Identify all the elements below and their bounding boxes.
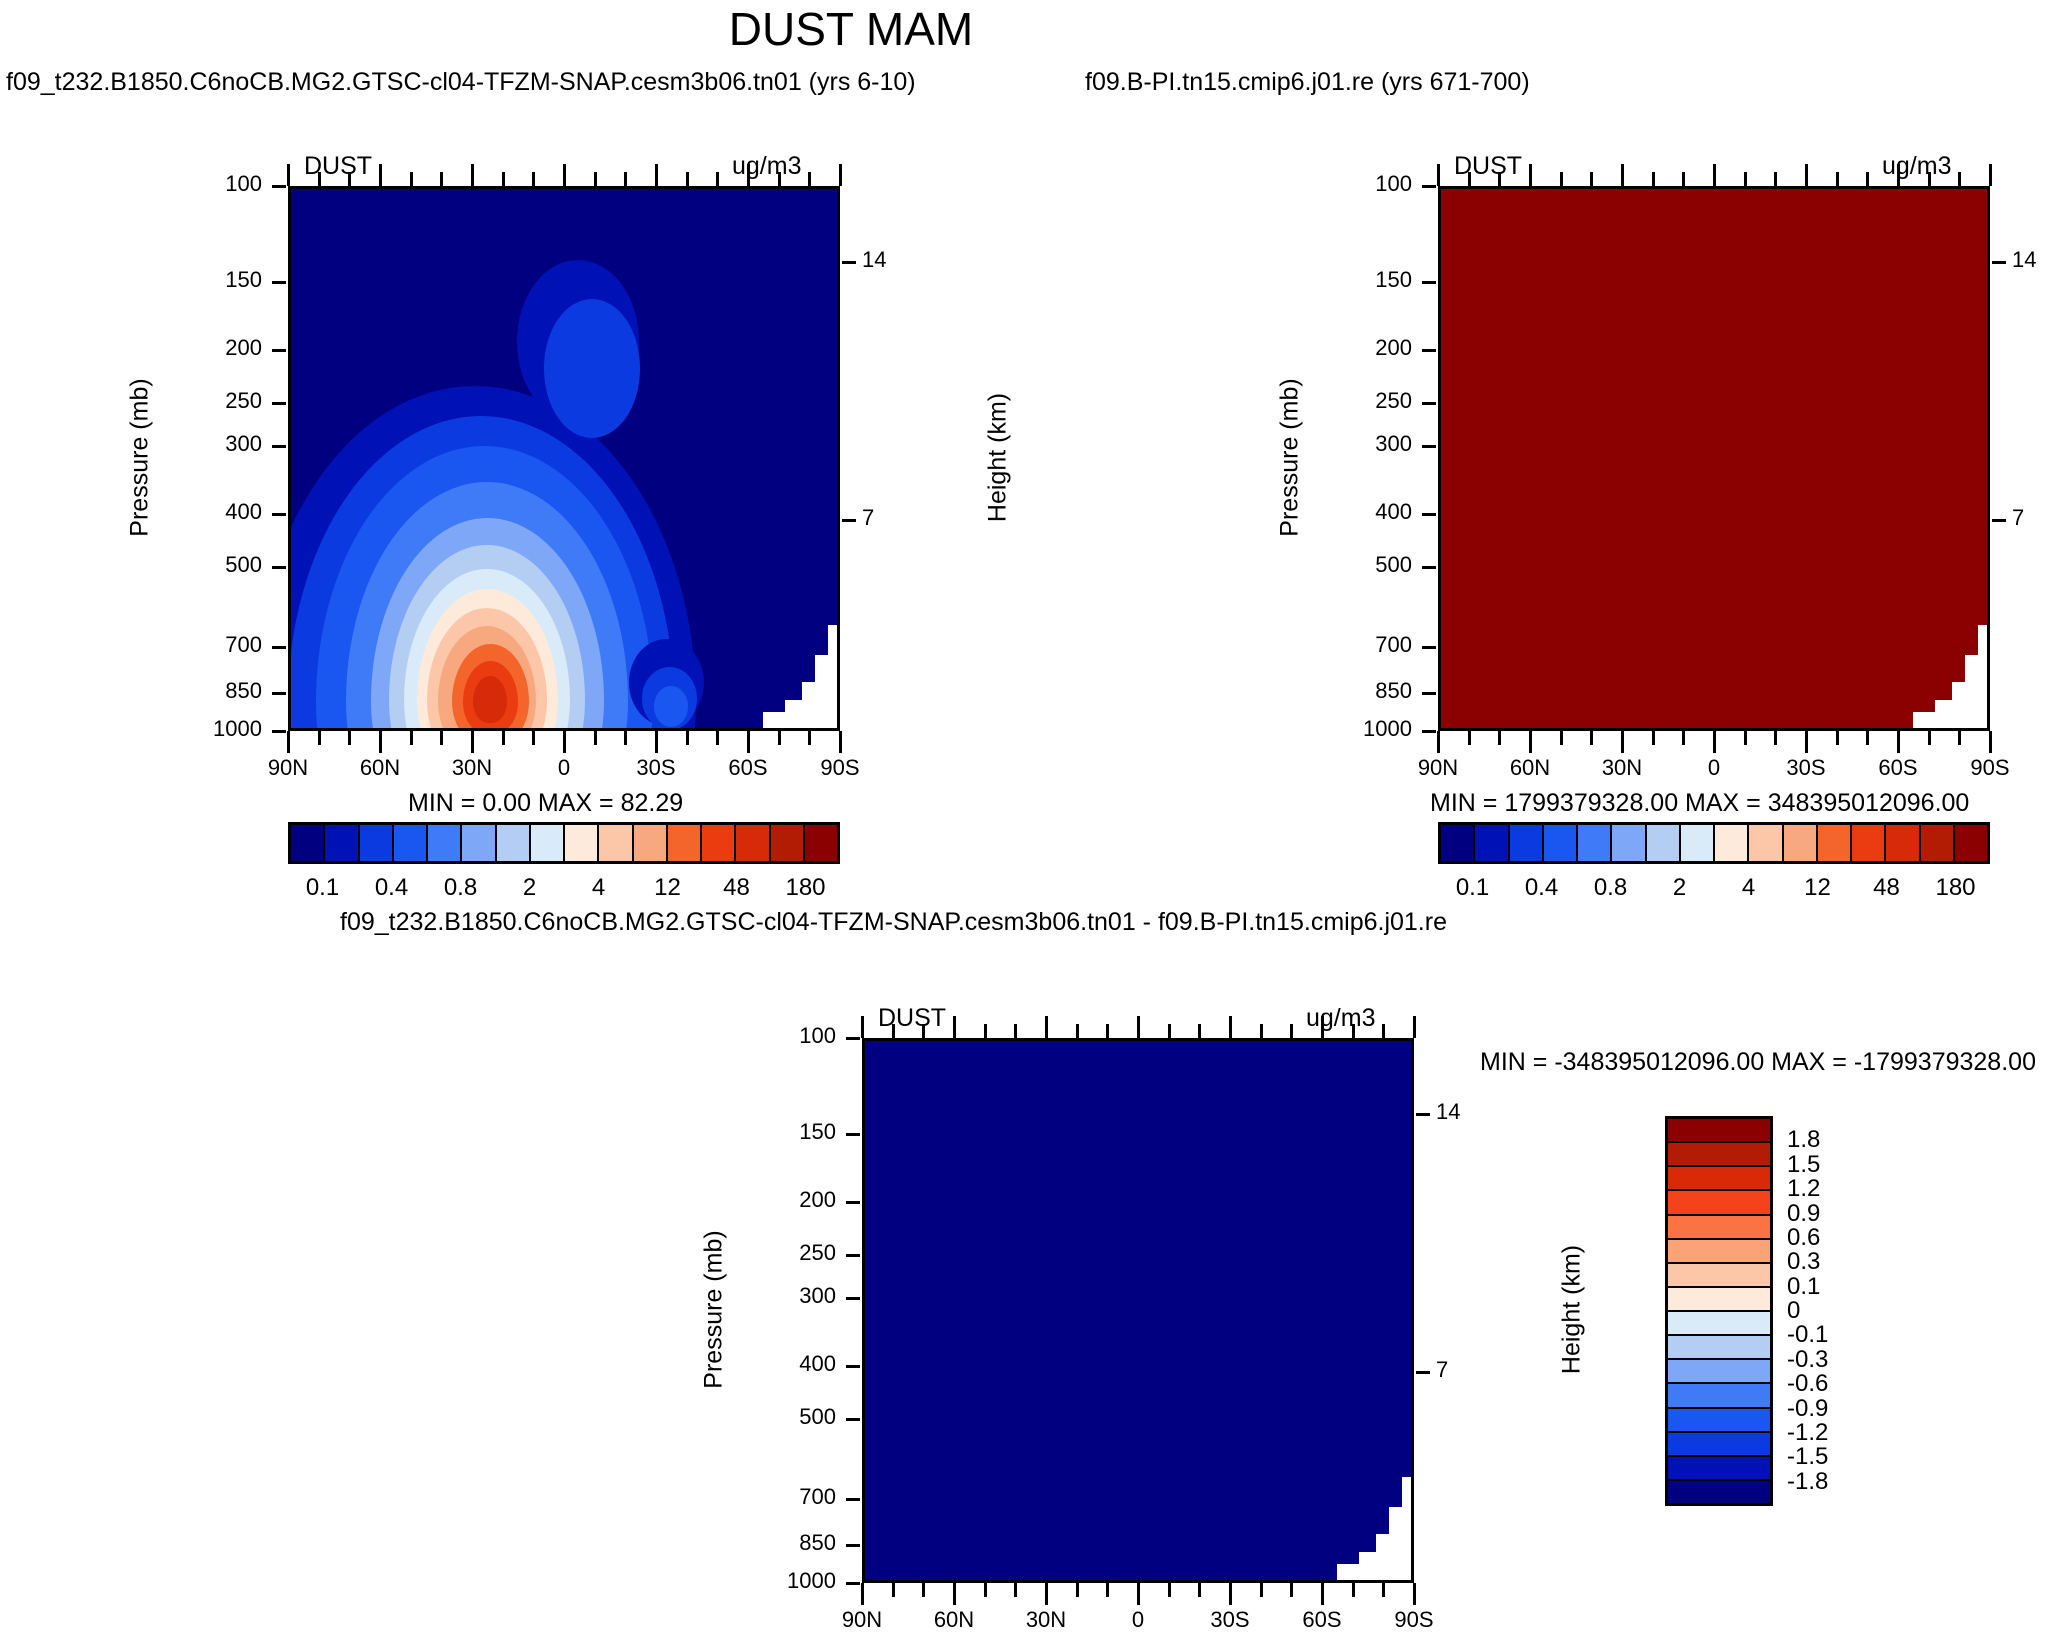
colorbar-cell (360, 825, 394, 861)
contour-band (544, 299, 641, 438)
latitude-tick (1045, 1583, 1048, 1605)
latitude-tick-label: 60N (904, 1607, 1004, 1633)
colorbar-cell (462, 825, 496, 861)
colorbar-cell (1668, 1481, 1770, 1503)
latitude-tick-label: 90S (1364, 1607, 1464, 1633)
colorbar-tick-label: 0.1 (1456, 874, 1489, 902)
colorbar-tick-label: 180 (1935, 874, 1975, 902)
latitude-tick (1437, 164, 1440, 186)
latitude-tick (1168, 1024, 1171, 1038)
latitude-tick (287, 164, 290, 186)
pressure-tick-label: 300 (158, 431, 262, 457)
latitude-tick (747, 164, 750, 186)
pressure-tick-label: 700 (158, 632, 262, 658)
latitude-tick (686, 172, 689, 186)
latitude-tick (1590, 172, 1593, 186)
colorbar-tick-label: 48 (723, 874, 750, 902)
colorbar-cell (1441, 825, 1475, 861)
latitude-tick (379, 164, 382, 186)
pressure-tick-label: 1000 (158, 716, 262, 742)
plot-area (862, 1038, 1414, 1583)
latitude-tick (922, 1024, 925, 1038)
colorbar-tick-label: 0.4 (1525, 874, 1558, 902)
colorbar-cell (394, 825, 428, 861)
y-axis-title-pressure: Pressure (mb) (700, 1189, 729, 1429)
latitude-tick (1713, 731, 1716, 753)
latitude-tick-label: 60S (1848, 755, 1948, 781)
pressure-tick-label: 200 (158, 335, 262, 361)
latitude-tick (1382, 1024, 1385, 1038)
pressure-tick-label: 700 (1308, 632, 1412, 658)
latitude-tick (1866, 731, 1869, 745)
colorbar-tick-label: 0.4 (375, 874, 408, 902)
latitude-tick (808, 172, 811, 186)
latitude-tick (1413, 1583, 1416, 1605)
latitude-tick-label: 30S (606, 755, 706, 781)
y-axis-title-pressure: Pressure (mb) (1276, 337, 1305, 577)
colorbar-cell (1612, 825, 1646, 861)
latitude-tick (1260, 1024, 1263, 1038)
latitude-tick-label: 0 (514, 755, 614, 781)
pressure-tick (272, 445, 286, 448)
colorbar-tick-label: 12 (654, 874, 681, 902)
latitude-tick (1014, 1024, 1017, 1038)
latitude-tick (563, 731, 566, 753)
colorbar-tick-label: 48 (1873, 874, 1900, 902)
latitude-tick-label: 90S (1940, 755, 2040, 781)
colorbar-tick-label: 0.8 (444, 874, 477, 902)
colorbar-tick-label: 2 (1673, 874, 1686, 902)
topography-mask (815, 655, 827, 731)
latitude-tick (624, 731, 627, 745)
pressure-tick-label: 1000 (732, 1568, 836, 1594)
latitude-tick (1989, 164, 1992, 186)
latitude-tick (1621, 731, 1624, 753)
latitude-tick (532, 172, 535, 186)
latitude-tick (1076, 1024, 1079, 1038)
latitude-tick (1560, 172, 1563, 186)
latitude-tick (1498, 172, 1501, 186)
colorbar-tick-label: -1.8 (1787, 1468, 1828, 1496)
plot-variable-name: DUST (304, 152, 372, 181)
topography-mask (785, 700, 802, 731)
colorbar-cell (771, 825, 805, 861)
latitude-tick (922, 1583, 925, 1597)
plot-variable-name: DUST (878, 1004, 946, 1033)
latitude-tick (563, 164, 566, 186)
latitude-tick (1260, 1583, 1263, 1597)
colorbar-cell (668, 825, 702, 861)
panel-subtitle-left: f09_t232.B1850.C6noCB.MG2.GTSC-cl04-TFZM… (6, 68, 916, 97)
pressure-tick (846, 1498, 860, 1501)
topography-mask (1952, 682, 1966, 731)
latitude-tick (1866, 172, 1869, 186)
latitude-tick (410, 731, 413, 745)
height-tick (1992, 519, 2006, 522)
height-tick (1992, 261, 2006, 264)
colorbar-cell (1668, 1384, 1770, 1408)
pressure-tick-label: 500 (1308, 552, 1412, 578)
pressure-tick-label: 300 (732, 1283, 836, 1309)
pressure-tick-label: 300 (1308, 431, 1412, 457)
latitude-tick (594, 172, 597, 186)
latitude-tick (1106, 1024, 1109, 1038)
pressure-tick-label: 500 (732, 1404, 836, 1430)
latitude-tick (1137, 1583, 1140, 1605)
latitude-tick (1928, 731, 1931, 745)
plot-variable-name: DUST (1454, 152, 1522, 181)
height-tick (1416, 1113, 1430, 1116)
latitude-tick (1076, 1583, 1079, 1597)
colorbar-difference[interactable] (1665, 1116, 1773, 1506)
topography-mask (1402, 1477, 1414, 1583)
pressure-tick (846, 1201, 860, 1204)
colorbar-absolute-labels: 0.10.40.8241248180 (288, 874, 840, 908)
pressure-tick-label: 150 (732, 1119, 836, 1145)
colorbar-cell (1668, 1288, 1770, 1312)
colorbar-cell (428, 825, 462, 861)
topography-mask (1935, 700, 1952, 731)
latitude-tick (1168, 1583, 1171, 1597)
latitude-tick-label: 30N (1572, 755, 1672, 781)
pressure-tick-label: 1000 (1308, 716, 1412, 742)
pressure-tick (272, 566, 286, 569)
latitude-tick (1498, 731, 1501, 745)
pressure-tick (846, 1297, 860, 1300)
height-tick-label: 7 (862, 505, 874, 531)
pressure-tick (1422, 513, 1436, 516)
latitude-tick-label: 90N (1388, 755, 1488, 781)
latitude-tick-label: 60N (1480, 755, 1580, 781)
latitude-tick (410, 172, 413, 186)
latitude-tick (471, 164, 474, 186)
pressure-tick-label: 100 (1308, 171, 1412, 197)
latitude-tick-label: 30N (422, 755, 522, 781)
pressure-tick (272, 281, 286, 284)
latitude-tick (1468, 172, 1471, 186)
latitude-tick (594, 731, 597, 745)
colorbar-cell (1668, 1143, 1770, 1167)
latitude-tick (1321, 1016, 1324, 1038)
latitude-tick (318, 172, 321, 186)
colorbar-tick-label: 0.1 (306, 874, 339, 902)
latitude-tick (1290, 1583, 1293, 1597)
pressure-tick (272, 402, 286, 405)
latitude-tick (1198, 1024, 1201, 1038)
colorbar-tick-label: 4 (592, 874, 605, 902)
pressure-tick-label: 400 (732, 1351, 836, 1377)
pressure-tick (1422, 566, 1436, 569)
pressure-tick-label: 850 (158, 678, 262, 704)
latitude-tick-label: 90N (238, 755, 338, 781)
colorbar-cell (1668, 1191, 1770, 1215)
topography-mask (802, 682, 816, 731)
height-tick-label: 7 (1436, 1357, 1448, 1383)
topography-mask (1965, 655, 1977, 731)
height-tick-label: 7 (2012, 505, 2024, 531)
y-axis-title-height: Height (km) (984, 337, 1013, 577)
contour-band (654, 686, 688, 727)
colorbar-cell (1647, 825, 1681, 861)
pressure-tick-label: 250 (1308, 388, 1412, 414)
pressure-tick-label: 100 (158, 171, 262, 197)
latitude-tick (808, 731, 811, 745)
latitude-tick (1897, 731, 1900, 753)
latitude-tick (1989, 731, 1992, 753)
pressure-tick-label: 150 (158, 267, 262, 293)
latitude-tick (1958, 172, 1961, 186)
latitude-tick (532, 731, 535, 745)
colorbar-cell (1784, 825, 1818, 861)
latitude-tick (318, 731, 321, 745)
colorbar-cell (1668, 1216, 1770, 1240)
colorbar-cell (1510, 825, 1544, 861)
colorbar-cell (1668, 1360, 1770, 1384)
minmax-label: MIN = -348395012096.00 MAX = -1799379328… (1480, 1048, 2036, 1077)
latitude-tick-label: 60S (698, 755, 798, 781)
latitude-tick (1382, 1583, 1385, 1597)
minmax-label: MIN = 0.00 MAX = 82.29 (408, 789, 683, 818)
latitude-tick (984, 1024, 987, 1038)
latitude-tick (839, 731, 842, 753)
topography-mask (763, 712, 785, 731)
colorbar-cell (1668, 1457, 1770, 1481)
latitude-tick (1014, 1583, 1017, 1597)
colorbar-cell (1668, 1409, 1770, 1433)
latitude-tick (655, 731, 658, 753)
latitude-tick (984, 1583, 987, 1597)
latitude-tick (747, 731, 750, 753)
colorbar-cell (736, 825, 770, 861)
latitude-tick (892, 1583, 895, 1597)
height-tick-label: 14 (862, 247, 886, 273)
latitude-tick (1437, 731, 1440, 753)
colorbar-cell (1668, 1312, 1770, 1336)
colorbar-cell (1955, 825, 1987, 861)
topography-mask (1978, 625, 1990, 731)
latitude-tick (839, 164, 842, 186)
pressure-tick (1422, 445, 1436, 448)
latitude-tick (686, 731, 689, 745)
colorbar-cell (291, 825, 325, 861)
latitude-tick (1928, 172, 1931, 186)
latitude-tick (287, 731, 290, 753)
colorbar-tick-label: 12 (1804, 874, 1831, 902)
pressure-tick (846, 1544, 860, 1547)
colorbar-cell (1715, 825, 1749, 861)
pressure-tick (1422, 349, 1436, 352)
height-tick-label: 14 (1436, 1099, 1460, 1125)
latitude-tick (861, 1583, 864, 1605)
height-tick (842, 261, 856, 264)
latitude-tick (1560, 731, 1563, 745)
latitude-tick (953, 1583, 956, 1605)
latitude-tick (1805, 164, 1808, 186)
colorbar-absolute[interactable] (1438, 822, 1990, 864)
colorbar-cell (805, 825, 837, 861)
latitude-tick (1590, 731, 1593, 745)
latitude-tick-label: 90S (790, 755, 890, 781)
latitude-tick (471, 731, 474, 753)
topography-mask (1359, 1552, 1376, 1583)
pressure-tick (1422, 185, 1436, 188)
latitude-tick (1529, 164, 1532, 186)
pressure-tick (1422, 646, 1436, 649)
latitude-tick (1744, 731, 1747, 745)
latitude-tick-label: 90N (812, 1607, 912, 1633)
latitude-tick (953, 1016, 956, 1038)
latitude-tick (1321, 1583, 1324, 1605)
latitude-tick (502, 731, 505, 745)
latitude-tick (1652, 172, 1655, 186)
colorbar-tick-label: 4 (1742, 874, 1755, 902)
pressure-tick-label: 500 (158, 552, 262, 578)
height-tick (1416, 1371, 1430, 1374)
latitude-tick (716, 172, 719, 186)
y-axis-title-height: Height (km) (1558, 1189, 1587, 1429)
latitude-tick (1652, 731, 1655, 745)
pressure-tick (272, 730, 286, 733)
pressure-tick-label: 200 (732, 1187, 836, 1213)
latitude-tick (892, 1024, 895, 1038)
latitude-tick (1897, 164, 1900, 186)
pressure-tick (846, 1582, 860, 1585)
pressure-tick-label: 150 (1308, 267, 1412, 293)
colorbar-cell (1749, 825, 1783, 861)
latitude-tick (1529, 731, 1532, 753)
y-axis-title-pressure: Pressure (mb) (126, 337, 155, 577)
latitude-tick-label: 30S (1180, 1607, 1280, 1633)
latitude-tick (1958, 731, 1961, 745)
colorbar-cell (634, 825, 668, 861)
latitude-tick (1198, 1583, 1201, 1597)
latitude-tick-label: 30N (996, 1607, 1096, 1633)
pressure-tick-label: 250 (732, 1240, 836, 1266)
height-tick-label: 14 (2012, 247, 2036, 273)
colorbar-cell (1475, 825, 1509, 861)
pressure-tick (272, 185, 286, 188)
height-tick (842, 519, 856, 522)
pressure-tick (846, 1133, 860, 1136)
pressure-tick-label: 100 (732, 1023, 836, 1049)
topography-mask (828, 625, 840, 731)
latitude-tick-label: 0 (1664, 755, 1764, 781)
latitude-tick (861, 1016, 864, 1038)
colorbar-absolute[interactable] (288, 822, 840, 864)
colorbar-cell (1668, 1240, 1770, 1264)
pressure-tick-label: 400 (158, 499, 262, 525)
latitude-tick (1468, 731, 1471, 745)
latitude-tick (1352, 1583, 1355, 1597)
panel-subtitle-right: f09.B-PI.tn15.cmip6.j01.re (yrs 671-700) (1085, 68, 1530, 97)
topography-mask (1337, 1564, 1359, 1583)
latitude-tick (440, 731, 443, 745)
latitude-tick-label: 60N (330, 755, 430, 781)
latitude-tick-label: 60S (1272, 1607, 1372, 1633)
latitude-tick (502, 172, 505, 186)
colorbar-cell (1578, 825, 1612, 861)
latitude-tick (1682, 172, 1685, 186)
pressure-tick (1422, 730, 1436, 733)
topography-mask (1389, 1507, 1401, 1583)
page-title: DUST MAM (0, 2, 2062, 56)
colorbar-cell (1544, 825, 1578, 861)
pressure-tick-label: 250 (158, 388, 262, 414)
colorbar-cell (1668, 1336, 1770, 1360)
panel-subtitle-diff: f09_t232.B1850.C6noCB.MG2.GTSC-cl04-TFZM… (340, 908, 1447, 937)
colorbar-cell (565, 825, 599, 861)
pressure-tick (846, 1365, 860, 1368)
colorbar-cell (1668, 1264, 1770, 1288)
latitude-tick-label: 0 (1088, 1607, 1188, 1633)
latitude-tick (1137, 1016, 1140, 1038)
contour-band (473, 676, 507, 723)
latitude-tick (1774, 731, 1777, 745)
colorbar-tick-label: 0.8 (1594, 874, 1627, 902)
pressure-tick-label: 850 (732, 1530, 836, 1556)
latitude-tick (1621, 164, 1624, 186)
pressure-tick (846, 1254, 860, 1257)
pressure-tick (846, 1418, 860, 1421)
pressure-tick (272, 349, 286, 352)
colorbar-cell (1668, 1433, 1770, 1457)
colorbar-cell (1681, 825, 1715, 861)
pressure-tick-label: 850 (1308, 678, 1412, 704)
topography-mask (1376, 1534, 1390, 1583)
latitude-tick (1413, 1016, 1416, 1038)
colorbar-cell (497, 825, 531, 861)
latitude-tick (778, 731, 781, 745)
colorbar-cell (1818, 825, 1852, 861)
latitude-tick (348, 731, 351, 745)
pressure-tick (1422, 692, 1436, 695)
pressure-tick-label: 200 (1308, 335, 1412, 361)
plot-units-label: ug/m3 (1306, 1004, 1375, 1033)
latitude-tick (778, 172, 781, 186)
plot-units-label: ug/m3 (1882, 152, 1951, 181)
colorbar-cell (1921, 825, 1955, 861)
latitude-tick (440, 172, 443, 186)
pressure-tick (846, 1037, 860, 1040)
page-title-text: DUST MAM (729, 2, 974, 56)
latitude-tick (655, 164, 658, 186)
colorbar-cell (1852, 825, 1886, 861)
colorbar-tick-label: 2 (523, 874, 536, 902)
latitude-tick (1682, 731, 1685, 745)
latitude-tick (379, 731, 382, 753)
colorbar-tick-label: 180 (785, 874, 825, 902)
latitude-tick (1836, 731, 1839, 745)
pressure-tick (272, 513, 286, 516)
colorbar-cell (702, 825, 736, 861)
latitude-tick (624, 172, 627, 186)
colorbar-cell (599, 825, 633, 861)
plot-area (1438, 186, 1990, 731)
plot-units-label: ug/m3 (732, 152, 801, 181)
minmax-label: MIN = 1799379328.00 MAX = 348395012096.0… (1430, 789, 1969, 818)
colorbar-cell (1668, 1167, 1770, 1191)
colorbar-cell (1668, 1119, 1770, 1143)
colorbar-cell (1886, 825, 1920, 861)
pressure-tick (272, 692, 286, 695)
latitude-tick (716, 731, 719, 745)
latitude-tick (1106, 1583, 1109, 1597)
pressure-tick (272, 646, 286, 649)
pressure-tick-label: 400 (1308, 499, 1412, 525)
pressure-tick (1422, 402, 1436, 405)
plot-area (288, 186, 840, 731)
latitude-tick (1744, 172, 1747, 186)
